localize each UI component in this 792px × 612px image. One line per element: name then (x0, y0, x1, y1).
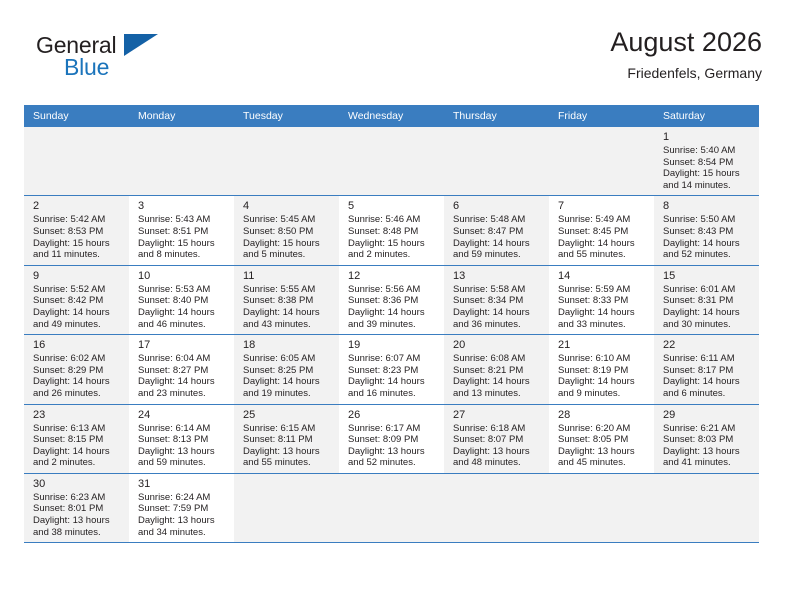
calendar-cell-day-23[interactable]: 23Sunrise: 6:13 AMSunset: 8:15 PMDayligh… (24, 404, 129, 473)
sunrise-text: Sunrise: 6:13 AM (33, 423, 121, 435)
sunset-text: Sunset: 8:05 PM (558, 434, 646, 446)
sunrise-text: Sunrise: 6:17 AM (348, 423, 436, 435)
day-number: 26 (348, 408, 436, 422)
sunrise-text: Sunrise: 6:23 AM (33, 492, 121, 504)
sunrise-text: Sunrise: 5:50 AM (663, 214, 751, 226)
daylight-text: and 5 minutes. (243, 249, 331, 261)
sunset-text: Sunset: 8:51 PM (138, 226, 226, 238)
empty-day (234, 474, 339, 542)
day-cell-content: 17Sunrise: 6:04 AMSunset: 8:27 PMDayligh… (129, 335, 234, 403)
calendar-cell-day-13[interactable]: 13Sunrise: 5:58 AMSunset: 8:34 PMDayligh… (444, 265, 549, 334)
day-cell-content: 26Sunrise: 6:17 AMSunset: 8:09 PMDayligh… (339, 405, 444, 473)
daylight-text: Daylight: 14 hours (138, 307, 226, 319)
daylight-text: Daylight: 13 hours (243, 446, 331, 458)
day-cell-content: 1Sunrise: 5:40 AMSunset: 8:54 PMDaylight… (654, 127, 759, 195)
day-number: 21 (558, 338, 646, 352)
daylight-text: Daylight: 14 hours (663, 307, 751, 319)
sunrise-text: Sunrise: 5:42 AM (33, 214, 121, 226)
sunset-text: Sunset: 8:47 PM (453, 226, 541, 238)
sunrise-text: Sunrise: 6:10 AM (558, 353, 646, 365)
weekday-header-friday: Friday (549, 105, 654, 127)
sunrise-sunset-calendar: SundayMondayTuesdayWednesdayThursdayFrid… (24, 105, 759, 543)
day-number: 5 (348, 199, 436, 213)
daylight-text: and 6 minutes. (663, 388, 751, 400)
empty-day (444, 127, 549, 195)
page-header: General Blue August 2026 Friedenfels, Ge… (24, 26, 762, 98)
day-number: 1 (663, 130, 751, 144)
calendar-cell-day-15[interactable]: 15Sunrise: 6:01 AMSunset: 8:31 PMDayligh… (654, 265, 759, 334)
calendar-cell-empty (234, 473, 339, 542)
day-number: 10 (138, 269, 226, 283)
calendar-cell-empty (339, 473, 444, 542)
daylight-text: Daylight: 13 hours (558, 446, 646, 458)
calendar-cell-empty (339, 127, 444, 196)
calendar-cell-day-2[interactable]: 2Sunrise: 5:42 AMSunset: 8:53 PMDaylight… (24, 196, 129, 265)
sunrise-text: Sunrise: 6:11 AM (663, 353, 751, 365)
daylight-text: Daylight: 14 hours (558, 376, 646, 388)
sunrise-text: Sunrise: 6:24 AM (138, 492, 226, 504)
day-number: 6 (453, 199, 541, 213)
day-cell-content: 27Sunrise: 6:18 AMSunset: 8:07 PMDayligh… (444, 405, 549, 473)
daylight-text: Daylight: 14 hours (348, 376, 436, 388)
weekday-header-thursday: Thursday (444, 105, 549, 127)
day-number: 14 (558, 269, 646, 283)
calendar-cell-empty (24, 127, 129, 196)
daylight-text: and 13 minutes. (453, 388, 541, 400)
daylight-text: and 59 minutes. (138, 457, 226, 469)
calendar-week-row: 1Sunrise: 5:40 AMSunset: 8:54 PMDaylight… (24, 127, 759, 196)
sunrise-text: Sunrise: 5:59 AM (558, 284, 646, 296)
page-title: August 2026 (610, 26, 762, 58)
day-number: 16 (33, 338, 121, 352)
day-cell-content: 12Sunrise: 5:56 AMSunset: 8:36 PMDayligh… (339, 266, 444, 334)
sunrise-text: Sunrise: 6:07 AM (348, 353, 436, 365)
empty-day (24, 127, 129, 195)
sunset-text: Sunset: 8:42 PM (33, 295, 121, 307)
sunset-text: Sunset: 8:29 PM (33, 365, 121, 377)
day-number: 7 (558, 199, 646, 213)
calendar-cell-empty (234, 127, 339, 196)
general-blue-logo[interactable]: General Blue (36, 32, 186, 90)
sunset-text: Sunset: 8:38 PM (243, 295, 331, 307)
day-cell-content: 2Sunrise: 5:42 AMSunset: 8:53 PMDaylight… (24, 196, 129, 264)
sunrise-text: Sunrise: 5:48 AM (453, 214, 541, 226)
sunset-text: Sunset: 8:17 PM (663, 365, 751, 377)
sunrise-text: Sunrise: 6:21 AM (663, 423, 751, 435)
calendar-week-row: 30Sunrise: 6:23 AMSunset: 8:01 PMDayligh… (24, 473, 759, 542)
weekday-header-tuesday: Tuesday (234, 105, 339, 127)
daylight-text: Daylight: 14 hours (663, 376, 751, 388)
day-cell-content: 13Sunrise: 5:58 AMSunset: 8:34 PMDayligh… (444, 266, 549, 334)
day-number: 8 (663, 199, 751, 213)
daylight-text: and 33 minutes. (558, 319, 646, 331)
calendar-cell-day-27[interactable]: 27Sunrise: 6:18 AMSunset: 8:07 PMDayligh… (444, 404, 549, 473)
sunset-text: Sunset: 8:36 PM (348, 295, 436, 307)
sunrise-text: Sunrise: 5:53 AM (138, 284, 226, 296)
calendar-cell-day-29[interactable]: 29Sunrise: 6:21 AMSunset: 8:03 PMDayligh… (654, 404, 759, 473)
calendar-cell-day-12[interactable]: 12Sunrise: 5:56 AMSunset: 8:36 PMDayligh… (339, 265, 444, 334)
weekday-header-sunday: Sunday (24, 105, 129, 127)
daylight-text: and 30 minutes. (663, 319, 751, 331)
calendar-cell-day-10[interactable]: 10Sunrise: 5:53 AMSunset: 8:40 PMDayligh… (129, 265, 234, 334)
day-number: 3 (138, 199, 226, 213)
day-number: 18 (243, 338, 331, 352)
logo-text-blue: Blue (64, 54, 109, 81)
daylight-text: Daylight: 14 hours (33, 307, 121, 319)
daylight-text: and 14 minutes. (663, 180, 751, 192)
sunrise-text: Sunrise: 6:01 AM (663, 284, 751, 296)
daylight-text: Daylight: 15 hours (348, 238, 436, 250)
day-number: 29 (663, 408, 751, 422)
sunset-text: Sunset: 8:03 PM (663, 434, 751, 446)
calendar-cell-empty (444, 127, 549, 196)
calendar-cell-day-14[interactable]: 14Sunrise: 5:59 AMSunset: 8:33 PMDayligh… (549, 265, 654, 334)
calendar-cell-day-4[interactable]: 4Sunrise: 5:45 AMSunset: 8:50 PMDaylight… (234, 196, 339, 265)
daylight-text: Daylight: 14 hours (663, 238, 751, 250)
sunrise-text: Sunrise: 5:46 AM (348, 214, 436, 226)
sunset-text: Sunset: 8:27 PM (138, 365, 226, 377)
calendar-cell-day-1[interactable]: 1Sunrise: 5:40 AMSunset: 8:54 PMDaylight… (654, 127, 759, 196)
daylight-text: and 52 minutes. (663, 249, 751, 261)
day-cell-content: 9Sunrise: 5:52 AMSunset: 8:42 PMDaylight… (24, 266, 129, 334)
calendar-cell-day-25[interactable]: 25Sunrise: 6:15 AMSunset: 8:11 PMDayligh… (234, 404, 339, 473)
sunset-text: Sunset: 8:21 PM (453, 365, 541, 377)
sunrise-text: Sunrise: 6:02 AM (33, 353, 121, 365)
calendar-cell-day-21[interactable]: 21Sunrise: 6:10 AMSunset: 8:19 PMDayligh… (549, 335, 654, 404)
sunset-text: Sunset: 8:31 PM (663, 295, 751, 307)
day-number: 17 (138, 338, 226, 352)
sunset-text: Sunset: 8:13 PM (138, 434, 226, 446)
daylight-text: and 59 minutes. (453, 249, 541, 261)
day-cell-content: 28Sunrise: 6:20 AMSunset: 8:05 PMDayligh… (549, 405, 654, 473)
daylight-text: Daylight: 13 hours (453, 446, 541, 458)
sunrise-text: Sunrise: 5:52 AM (33, 284, 121, 296)
day-number: 30 (33, 477, 121, 491)
empty-day (129, 127, 234, 195)
daylight-text: and 39 minutes. (348, 319, 436, 331)
calendar-header-row: SundayMondayTuesdayWednesdayThursdayFrid… (24, 105, 759, 127)
daylight-text: Daylight: 14 hours (558, 238, 646, 250)
day-cell-content: 29Sunrise: 6:21 AMSunset: 8:03 PMDayligh… (654, 405, 759, 473)
day-cell-content: 10Sunrise: 5:53 AMSunset: 8:40 PMDayligh… (129, 266, 234, 334)
calendar-cell-day-20[interactable]: 20Sunrise: 6:08 AMSunset: 8:21 PMDayligh… (444, 335, 549, 404)
calendar-cell-day-16[interactable]: 16Sunrise: 6:02 AMSunset: 8:29 PMDayligh… (24, 335, 129, 404)
weekday-header-wednesday: Wednesday (339, 105, 444, 127)
calendar-cell-day-9[interactable]: 9Sunrise: 5:52 AMSunset: 8:42 PMDaylight… (24, 265, 129, 334)
day-cell-content: 16Sunrise: 6:02 AMSunset: 8:29 PMDayligh… (24, 335, 129, 403)
daylight-text: and 9 minutes. (558, 388, 646, 400)
day-number: 19 (348, 338, 436, 352)
calendar-cell-day-6[interactable]: 6Sunrise: 5:48 AMSunset: 8:47 PMDaylight… (444, 196, 549, 265)
sunrise-text: Sunrise: 6:20 AM (558, 423, 646, 435)
daylight-text: and 34 minutes. (138, 527, 226, 539)
empty-day (549, 127, 654, 195)
calendar-cell-empty (549, 473, 654, 542)
day-number: 27 (453, 408, 541, 422)
daylight-text: Daylight: 15 hours (33, 238, 121, 250)
calendar-cell-empty (444, 473, 549, 542)
sunset-text: Sunset: 8:45 PM (558, 226, 646, 238)
calendar-cell-day-18[interactable]: 18Sunrise: 6:05 AMSunset: 8:25 PMDayligh… (234, 335, 339, 404)
sunset-text: Sunset: 8:23 PM (348, 365, 436, 377)
day-cell-content: 19Sunrise: 6:07 AMSunset: 8:23 PMDayligh… (339, 335, 444, 403)
daylight-text: Daylight: 15 hours (243, 238, 331, 250)
daylight-text: and 2 minutes. (348, 249, 436, 261)
calendar-cell-day-19[interactable]: 19Sunrise: 6:07 AMSunset: 8:23 PMDayligh… (339, 335, 444, 404)
daylight-text: Daylight: 15 hours (663, 168, 751, 180)
empty-day (339, 474, 444, 542)
daylight-text: and 8 minutes. (138, 249, 226, 261)
daylight-text: and 55 minutes. (243, 457, 331, 469)
daylight-text: and 11 minutes. (33, 249, 121, 261)
day-number: 20 (453, 338, 541, 352)
day-cell-content: 21Sunrise: 6:10 AMSunset: 8:19 PMDayligh… (549, 335, 654, 403)
sunrise-text: Sunrise: 5:49 AM (558, 214, 646, 226)
daylight-text: and 45 minutes. (558, 457, 646, 469)
sunset-text: Sunset: 8:07 PM (453, 434, 541, 446)
daylight-text: Daylight: 14 hours (453, 376, 541, 388)
day-number: 23 (33, 408, 121, 422)
daylight-text: Daylight: 13 hours (33, 515, 121, 527)
calendar-cell-day-31[interactable]: 31Sunrise: 6:24 AMSunset: 7:59 PMDayligh… (129, 473, 234, 542)
sunrise-text: Sunrise: 6:04 AM (138, 353, 226, 365)
day-number: 31 (138, 477, 226, 491)
day-cell-content: 6Sunrise: 5:48 AMSunset: 8:47 PMDaylight… (444, 196, 549, 264)
page-subtitle: Friedenfels, Germany (610, 63, 762, 83)
daylight-text: and 46 minutes. (138, 319, 226, 331)
day-cell-content: 23Sunrise: 6:13 AMSunset: 8:15 PMDayligh… (24, 405, 129, 473)
day-cell-content: 18Sunrise: 6:05 AMSunset: 8:25 PMDayligh… (234, 335, 339, 403)
daylight-text: and 48 minutes. (453, 457, 541, 469)
day-cell-content: 4Sunrise: 5:45 AMSunset: 8:50 PMDaylight… (234, 196, 339, 264)
sunrise-text: Sunrise: 5:58 AM (453, 284, 541, 296)
calendar-cell-day-5[interactable]: 5Sunrise: 5:46 AMSunset: 8:48 PMDaylight… (339, 196, 444, 265)
daylight-text: Daylight: 14 hours (348, 307, 436, 319)
day-number: 28 (558, 408, 646, 422)
sunrise-text: Sunrise: 6:15 AM (243, 423, 331, 435)
calendar-week-row: 16Sunrise: 6:02 AMSunset: 8:29 PMDayligh… (24, 335, 759, 404)
calendar-cell-day-17[interactable]: 17Sunrise: 6:04 AMSunset: 8:27 PMDayligh… (129, 335, 234, 404)
day-number: 24 (138, 408, 226, 422)
sunrise-text: Sunrise: 6:08 AM (453, 353, 541, 365)
daylight-text: Daylight: 14 hours (138, 376, 226, 388)
sunset-text: Sunset: 8:40 PM (138, 295, 226, 307)
day-cell-content: 3Sunrise: 5:43 AMSunset: 8:51 PMDaylight… (129, 196, 234, 264)
day-number: 9 (33, 269, 121, 283)
empty-day (339, 127, 444, 195)
day-number: 4 (243, 199, 331, 213)
daylight-text: Daylight: 13 hours (663, 446, 751, 458)
calendar-cell-empty (654, 473, 759, 542)
weekday-header: SundayMondayTuesdayWednesdayThursdayFrid… (24, 105, 759, 127)
calendar-cell-day-22[interactable]: 22Sunrise: 6:11 AMSunset: 8:17 PMDayligh… (654, 335, 759, 404)
daylight-text: and 49 minutes. (33, 319, 121, 331)
calendar-cell-empty (549, 127, 654, 196)
day-cell-content: 20Sunrise: 6:08 AMSunset: 8:21 PMDayligh… (444, 335, 549, 403)
daylight-text: Daylight: 13 hours (348, 446, 436, 458)
day-cell-content: 7Sunrise: 5:49 AMSunset: 8:45 PMDaylight… (549, 196, 654, 264)
weekday-header-monday: Monday (129, 105, 234, 127)
daylight-text: Daylight: 14 hours (33, 376, 121, 388)
sunset-text: Sunset: 8:54 PM (663, 157, 751, 169)
calendar-cell-empty (129, 127, 234, 196)
day-number: 15 (663, 269, 751, 283)
sunrise-text: Sunrise: 6:05 AM (243, 353, 331, 365)
day-cell-content: 8Sunrise: 5:50 AMSunset: 8:43 PMDaylight… (654, 196, 759, 264)
daylight-text: Daylight: 13 hours (138, 446, 226, 458)
day-number: 12 (348, 269, 436, 283)
sunset-text: Sunset: 8:01 PM (33, 503, 121, 515)
daylight-text: Daylight: 14 hours (243, 376, 331, 388)
sunrise-text: Sunrise: 6:14 AM (138, 423, 226, 435)
sunset-text: Sunset: 8:19 PM (558, 365, 646, 377)
sunset-text: Sunset: 8:53 PM (33, 226, 121, 238)
sunset-text: Sunset: 8:09 PM (348, 434, 436, 446)
daylight-text: Daylight: 14 hours (33, 446, 121, 458)
sunset-text: Sunset: 7:59 PM (138, 503, 226, 515)
sunrise-text: Sunrise: 5:40 AM (663, 145, 751, 157)
daylight-text: and 19 minutes. (243, 388, 331, 400)
daylight-text: and 52 minutes. (348, 457, 436, 469)
day-cell-content: 11Sunrise: 5:55 AMSunset: 8:38 PMDayligh… (234, 266, 339, 334)
day-cell-content: 14Sunrise: 5:59 AMSunset: 8:33 PMDayligh… (549, 266, 654, 334)
sunset-text: Sunset: 8:50 PM (243, 226, 331, 238)
calendar-week-row: 9Sunrise: 5:52 AMSunset: 8:42 PMDaylight… (24, 265, 759, 334)
calendar-cell-day-7[interactable]: 7Sunrise: 5:49 AMSunset: 8:45 PMDaylight… (549, 196, 654, 265)
day-cell-content: 15Sunrise: 6:01 AMSunset: 8:31 PMDayligh… (654, 266, 759, 334)
calendar-cell-day-30[interactable]: 30Sunrise: 6:23 AMSunset: 8:01 PMDayligh… (24, 473, 129, 542)
sunset-text: Sunset: 8:48 PM (348, 226, 436, 238)
daylight-text: Daylight: 13 hours (138, 515, 226, 527)
empty-day (654, 474, 759, 542)
day-cell-content: 24Sunrise: 6:14 AMSunset: 8:13 PMDayligh… (129, 405, 234, 473)
sunrise-text: Sunrise: 6:18 AM (453, 423, 541, 435)
day-cell-content: 22Sunrise: 6:11 AMSunset: 8:17 PMDayligh… (654, 335, 759, 403)
logo-flag-icon (124, 34, 158, 56)
day-number: 13 (453, 269, 541, 283)
sunrise-text: Sunrise: 5:45 AM (243, 214, 331, 226)
daylight-text: and 38 minutes. (33, 527, 121, 539)
sunrise-text: Sunrise: 5:43 AM (138, 214, 226, 226)
sunset-text: Sunset: 8:25 PM (243, 365, 331, 377)
empty-day (444, 474, 549, 542)
sunset-text: Sunset: 8:15 PM (33, 434, 121, 446)
weekday-header-saturday: Saturday (654, 105, 759, 127)
empty-day (549, 474, 654, 542)
calendar-page: General Blue August 2026 Friedenfels, Ge… (0, 0, 792, 612)
calendar-cell-day-3[interactable]: 3Sunrise: 5:43 AMSunset: 8:51 PMDaylight… (129, 196, 234, 265)
day-number: 11 (243, 269, 331, 283)
sunrise-text: Sunrise: 5:55 AM (243, 284, 331, 296)
daylight-text: Daylight: 14 hours (453, 307, 541, 319)
empty-day (234, 127, 339, 195)
daylight-text: Daylight: 15 hours (138, 238, 226, 250)
sunset-text: Sunset: 8:11 PM (243, 434, 331, 446)
daylight-text: Daylight: 14 hours (243, 307, 331, 319)
sunset-text: Sunset: 8:33 PM (558, 295, 646, 307)
daylight-text: and 55 minutes. (558, 249, 646, 261)
daylight-text: and 16 minutes. (348, 388, 436, 400)
daylight-text: and 26 minutes. (33, 388, 121, 400)
day-number: 22 (663, 338, 751, 352)
daylight-text: and 36 minutes. (453, 319, 541, 331)
calendar-cell-day-11[interactable]: 11Sunrise: 5:55 AMSunset: 8:38 PMDayligh… (234, 265, 339, 334)
day-cell-content: 31Sunrise: 6:24 AMSunset: 7:59 PMDayligh… (129, 474, 234, 542)
sunrise-text: Sunrise: 5:56 AM (348, 284, 436, 296)
calendar-cell-day-24[interactable]: 24Sunrise: 6:14 AMSunset: 8:13 PMDayligh… (129, 404, 234, 473)
day-number: 2 (33, 199, 121, 213)
daylight-text: and 2 minutes. (33, 457, 121, 469)
day-cell-content: 30Sunrise: 6:23 AMSunset: 8:01 PMDayligh… (24, 474, 129, 542)
daylight-text: and 43 minutes. (243, 319, 331, 331)
daylight-text: and 23 minutes. (138, 388, 226, 400)
daylight-text: Daylight: 14 hours (558, 307, 646, 319)
daylight-text: and 41 minutes. (663, 457, 751, 469)
sunset-text: Sunset: 8:43 PM (663, 226, 751, 238)
calendar-week-row: 23Sunrise: 6:13 AMSunset: 8:15 PMDayligh… (24, 404, 759, 473)
calendar-cell-day-28[interactable]: 28Sunrise: 6:20 AMSunset: 8:05 PMDayligh… (549, 404, 654, 473)
daylight-text: Daylight: 14 hours (453, 238, 541, 250)
calendar-body: 1Sunrise: 5:40 AMSunset: 8:54 PMDaylight… (24, 127, 759, 543)
calendar-week-row: 2Sunrise: 5:42 AMSunset: 8:53 PMDaylight… (24, 196, 759, 265)
day-number: 25 (243, 408, 331, 422)
calendar-cell-day-26[interactable]: 26Sunrise: 6:17 AMSunset: 8:09 PMDayligh… (339, 404, 444, 473)
day-cell-content: 25Sunrise: 6:15 AMSunset: 8:11 PMDayligh… (234, 405, 339, 473)
sunset-text: Sunset: 8:34 PM (453, 295, 541, 307)
title-block: August 2026 Friedenfels, Germany (610, 26, 762, 83)
day-cell-content: 5Sunrise: 5:46 AMSunset: 8:48 PMDaylight… (339, 196, 444, 264)
calendar-cell-day-8[interactable]: 8Sunrise: 5:50 AMSunset: 8:43 PMDaylight… (654, 196, 759, 265)
